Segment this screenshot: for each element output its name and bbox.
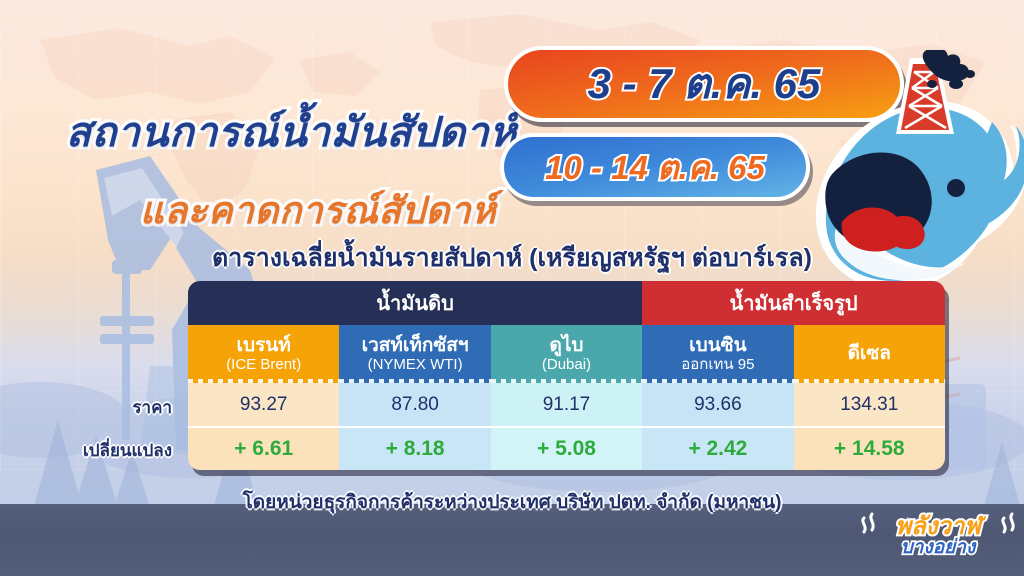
price-cell-1: 87.80 bbox=[339, 383, 490, 427]
group-header-crude: น้ำมันดิบ bbox=[188, 281, 642, 325]
row-label-price: ราคา bbox=[132, 394, 172, 421]
brand-logo: พลังวาฬ บางอย่าง bbox=[858, 506, 1018, 568]
row-label-column: ราคา เปลี่ยนแปลง bbox=[0, 281, 180, 470]
table-column-1: เวสท์เท็กซัสฯ(NYMEX WTI)87.80+ 8.18 bbox=[339, 325, 490, 470]
column-header-0: เบรนท์(ICE Brent) bbox=[188, 325, 339, 383]
logo-line-2: บางอย่าง bbox=[872, 532, 1004, 562]
column-header-4: ดีเซล bbox=[794, 325, 945, 383]
change-cell-0: + 6.61 bbox=[188, 427, 339, 470]
column-header-th-3: เบนซิน bbox=[689, 336, 746, 355]
table-column-2: ดูไบ(Dubai)91.17+ 5.08 bbox=[491, 325, 642, 470]
table-column-3: เบนซินออกเทน 9593.66+ 2.42 bbox=[642, 325, 793, 470]
page-title-line-2: และคาดการณ์สัปดาห์ bbox=[140, 181, 496, 240]
column-header-en-2: (Dubai) bbox=[542, 357, 591, 372]
column-header-th-1: เวสท์เท็กซัสฯ bbox=[362, 336, 469, 355]
change-cell-3: + 2.42 bbox=[642, 427, 793, 470]
column-header-en-0: (ICE Brent) bbox=[226, 357, 301, 372]
table-column-0: เบรนท์(ICE Brent)93.27+ 6.61 bbox=[188, 325, 339, 470]
column-header-2: ดูไบ(Dubai) bbox=[491, 325, 642, 383]
column-header-3: เบนซินออกเทน 95 bbox=[642, 325, 793, 383]
column-header-1: เวสท์เท็กซัสฯ(NYMEX WTI) bbox=[339, 325, 490, 383]
group-header-refined: น้ำมันสำเร็จรูป bbox=[642, 281, 945, 325]
oil-price-table: น้ำมันดิบ น้ำมันสำเร็จรูป เบรนท์(ICE Bre… bbox=[188, 281, 945, 470]
row-label-change: เปลี่ยนแปลง bbox=[83, 437, 172, 464]
table-caption: ตารางเฉลี่ยน้ำมันรายสัปดาห์ (เหรียญสหรัฐ… bbox=[0, 238, 1024, 278]
date-badge-forecast-week: 10 - 14 ต.ค. 65 bbox=[500, 133, 810, 201]
change-cell-4: + 14.58 bbox=[794, 427, 945, 470]
column-header-th-2: ดูไบ bbox=[549, 336, 583, 355]
column-header-en-1: (NYMEX WTI) bbox=[368, 357, 463, 372]
price-cell-3: 93.66 bbox=[642, 383, 793, 427]
column-header-th-0: เบรนท์ bbox=[237, 336, 291, 355]
change-cell-1: + 8.18 bbox=[339, 427, 490, 470]
table-column-4: ดีเซล134.31+ 14.58 bbox=[794, 325, 945, 470]
price-cell-4: 134.31 bbox=[794, 383, 945, 427]
price-cell-2: 91.17 bbox=[491, 383, 642, 427]
table-body: เบรนท์(ICE Brent)93.27+ 6.61เวสท์เท็กซัส… bbox=[188, 325, 945, 470]
change-cell-2: + 5.08 bbox=[491, 427, 642, 470]
column-header-th-4: ดีเซล bbox=[848, 344, 891, 363]
table-group-header-row: น้ำมันดิบ น้ำมันสำเร็จรูป bbox=[188, 281, 945, 325]
column-header-en-3: ออกเทน 95 bbox=[681, 357, 754, 372]
price-cell-0: 93.27 bbox=[188, 383, 339, 427]
page-title-line-1: สถานการณ์น้ำมันสัปดาห์ bbox=[66, 100, 517, 165]
